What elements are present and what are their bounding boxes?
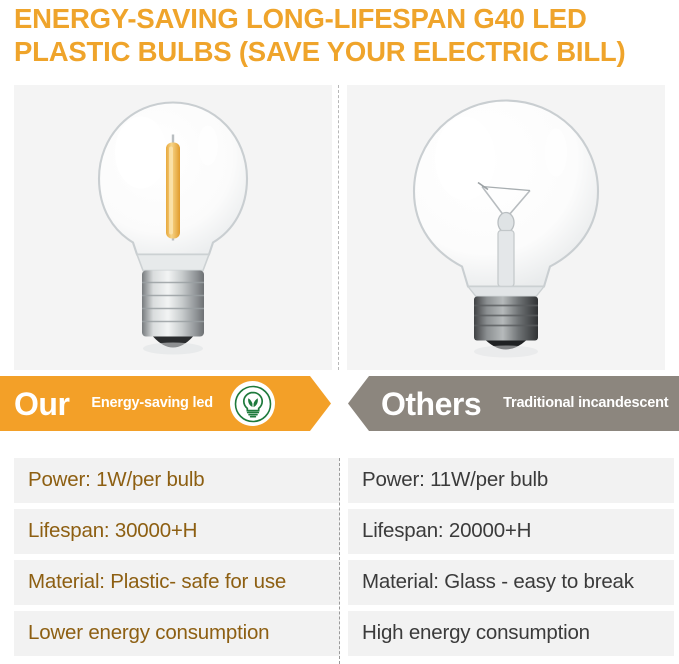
led-bulb-icon [83,90,263,360]
banner-others-fold [655,431,679,448]
spec-comparison-table: Power: 1W/per bulb Lifespan: 30000+H Mat… [0,458,679,664]
spec-row-our-lifespan: Lifespan: 30000+H [14,509,340,554]
product-photo-incandescent [347,85,665,370]
eco-bulb-leaf-glyph [234,385,272,423]
product-photo-led [14,85,332,370]
incandescent-bulb-icon [408,90,604,360]
spec-row-others-lifespan: Lifespan: 20000+H [348,509,674,554]
page-title-line-1: ENERGY-SAVING LONG-LIFESPAN G40 LED [14,2,669,35]
spec-row-others-consumption: High energy consumption [348,611,674,656]
page-title: ENERGY-SAVING LONG-LIFESPAN G40 LED PLAS… [14,0,669,68]
photo-panel-divider [338,85,339,370]
spec-text: Material: Glass - easy to break [362,572,634,593]
page-title-line-2: PLASTIC BULBS (SAVE YOUR ELECTRIC BILL) [14,35,669,68]
spec-row-our-material: Material: Plastic- safe for use [14,560,340,605]
spec-row-others-material: Material: Glass - easy to break [348,560,674,605]
spec-text: Power: 11W/per bulb [362,470,548,491]
spec-text: Lower energy consumption [28,623,269,644]
spec-text: Lifespan: 20000+H [362,521,531,542]
eco-bulb-leaf-icon [230,381,275,426]
banner-others-title: Others [381,388,481,420]
incandescent-bulb-illustration [408,90,604,365]
spec-text: High energy consumption [362,623,590,644]
product-comparison-infographic: ENERGY-SAVING LONG-LIFESPAN G40 LED PLAS… [0,0,679,664]
product-photo-row [14,85,665,370]
banner-our-fold [0,431,24,448]
spec-text: Lifespan: 30000+H [28,521,197,542]
spec-column-others: Power: 11W/per bulb Lifespan: 20000+H Ma… [348,458,674,662]
spec-row-others-power: Power: 11W/per bulb [348,458,674,503]
banner-our: Our Energy-saving led [0,376,331,431]
spec-column-our: Power: 1W/per bulb Lifespan: 30000+H Mat… [14,458,340,662]
banner-others-subtitle: Traditional incandescent [503,396,668,411]
spec-row-our-power: Power: 1W/per bulb [14,458,340,503]
banner-others: Others Traditional incandescent [348,376,679,431]
banner-our-title: Our [14,388,69,420]
spec-text: Power: 1W/per bulb [28,470,204,491]
led-bulb-illustration [83,90,263,365]
spec-text: Material: Plastic- safe for use [28,572,286,593]
comparison-banner-row: Our Energy-saving led Others Traditional… [0,376,679,448]
banner-our-subtitle: Energy-saving led [91,396,213,411]
spec-column-divider [339,458,340,664]
spec-row-our-consumption: Lower energy consumption [14,611,340,656]
